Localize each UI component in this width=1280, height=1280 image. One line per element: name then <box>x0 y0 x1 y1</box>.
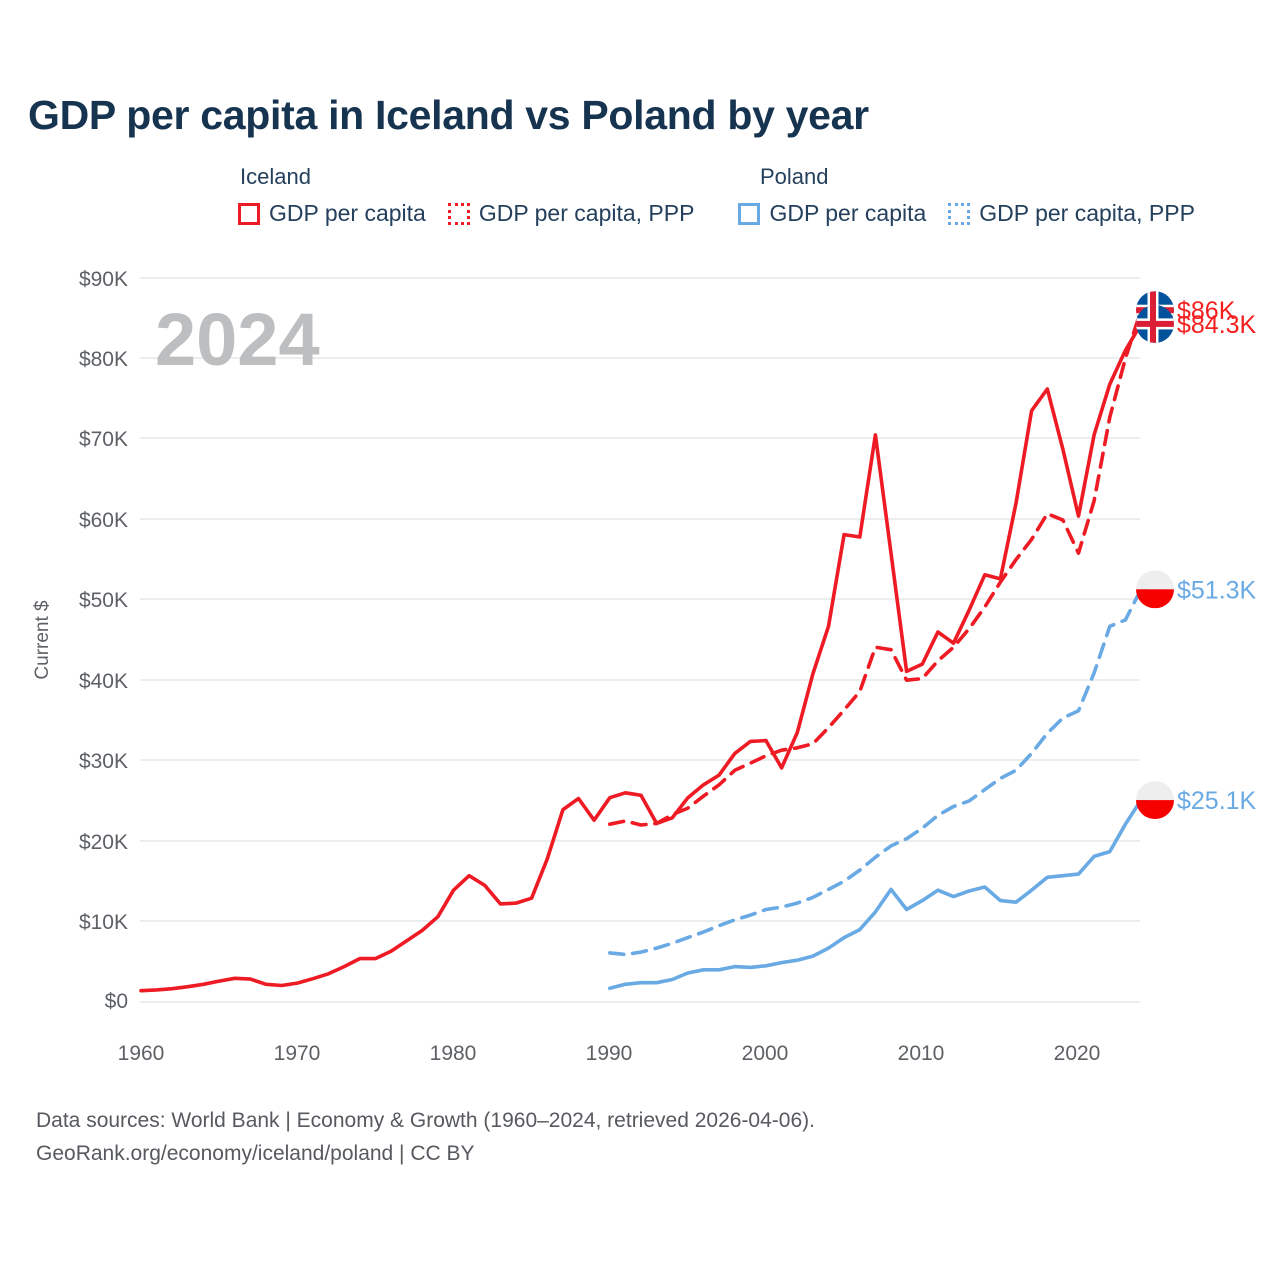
y-tick-label: $80K <box>79 348 128 371</box>
end-label-iceland-gdp: $84.3K <box>1136 305 1257 343</box>
iceland-flag-icon <box>1136 305 1174 343</box>
x-tick-label: 1970 <box>274 1042 321 1065</box>
y-tick-label: $40K <box>79 670 128 693</box>
series-line-iceland-ppp <box>610 310 1141 825</box>
poland-flag-icon <box>1136 570 1174 608</box>
end-label-value: $51.3K <box>1177 576 1257 604</box>
x-tick-label: 1980 <box>430 1042 477 1065</box>
end-label-poland-gdp-ppp: $51.3K <box>1136 570 1257 608</box>
end-label-value: $84.3K <box>1177 311 1257 339</box>
end-label-value: $25.1K <box>1177 787 1257 815</box>
y-tick-label: $20K <box>79 831 128 854</box>
footer-line-sources: Data sources: World Bank | Economy & Gro… <box>36 1105 815 1138</box>
chart-svg: $90K $80K $70K $60K $50K $40K $30K $20K … <box>0 0 1280 1280</box>
x-tick-label: 1990 <box>586 1042 633 1065</box>
poland-flag-icon <box>1136 781 1174 819</box>
y-tick-label: $70K <box>79 428 128 451</box>
y-axis-ticks: $90K $80K $70K $60K $50K $40K $30K $20K … <box>79 268 128 1013</box>
y-tick-label: $30K <box>79 750 128 773</box>
end-labels-layer: $86K$84.3K$51.3K$25.1K <box>1136 291 1257 819</box>
watermark-year: 2024 <box>155 298 320 381</box>
chart-page: GDP per capita in Iceland vs Poland by y… <box>0 0 1280 1280</box>
x-tick-label: 2010 <box>898 1042 945 1065</box>
plot-area: $90K $80K $70K $60K $50K $40K $30K $20K … <box>0 0 1280 1280</box>
y-axis-title: Current $ <box>32 600 53 680</box>
series-line-poland-ppp <box>610 589 1141 954</box>
y-tick-label: $10K <box>79 911 128 934</box>
series-line-poland-nominal <box>610 800 1141 988</box>
x-axis-ticks: 1960 1970 1980 1990 2000 2010 2020 <box>118 1042 1101 1065</box>
footer-line-attribution: GeoRank.org/economy/iceland/poland | CC … <box>36 1138 815 1171</box>
x-tick-label: 2020 <box>1054 1042 1101 1065</box>
end-label-poland-gdp: $25.1K <box>1136 781 1257 819</box>
x-tick-label: 2000 <box>742 1042 789 1065</box>
y-tick-label: $90K <box>79 268 128 291</box>
x-tick-label: 1960 <box>118 1042 165 1065</box>
series-layer <box>141 310 1141 991</box>
y-tick-label: $50K <box>79 589 128 612</box>
y-tick-label: $0 <box>105 990 128 1013</box>
footer: Data sources: World Bank | Economy & Gro… <box>36 1105 815 1170</box>
y-tick-label: $60K <box>79 509 128 532</box>
